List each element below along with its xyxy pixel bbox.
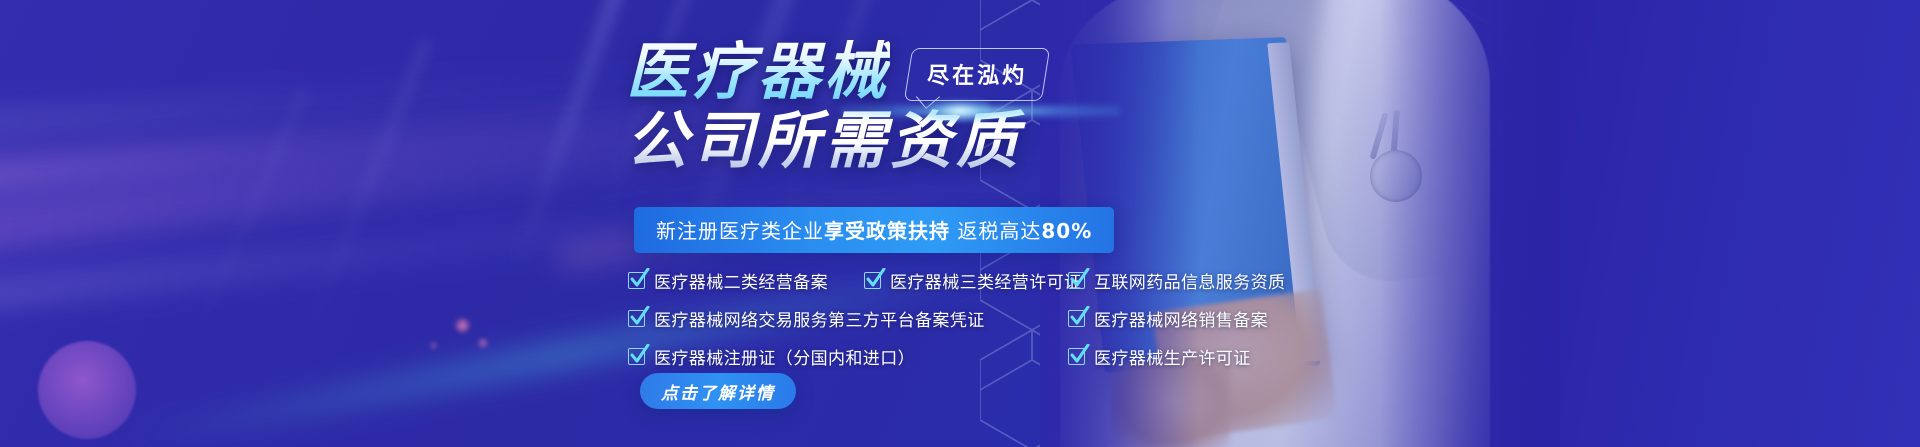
list-item[interactable]: 互联网药品信息服务资质 xyxy=(1068,268,1285,293)
list-item-label: 医疗器械三类经营许可证 xyxy=(890,268,1081,293)
list-item[interactable]: 医疗器械二类经营备案 xyxy=(628,268,828,293)
banner-content: 医疗器械 尽在泓灼 公司所需资质 新注册医疗类企业享受政策扶持 返税高达80% xyxy=(0,0,1920,447)
headline-line-1: 医疗器械 xyxy=(626,40,890,103)
list-item-label: 医疗器械生产许可证 xyxy=(1094,344,1251,369)
checkbox-checked-icon xyxy=(1068,272,1085,289)
brand-tag-bubble: 尽在泓灼 xyxy=(904,48,1050,101)
subtitle-highlight-bar: 新注册医疗类企业享受政策扶持 返税高达80% xyxy=(634,207,1114,253)
checklist-right-column: 互联网药品信息服务资质 医疗器械网络销售备案 xyxy=(1068,268,1285,369)
checklist-row: 医疗器械二类经营备案 医疗器械三类经营许可证 xyxy=(628,268,1068,293)
list-item[interactable]: 医疗器械网络销售备案 xyxy=(1068,306,1285,331)
checkbox-checked-icon xyxy=(1068,310,1085,327)
brand-tag-label: 尽在泓灼 xyxy=(927,58,1027,90)
subtitle-text-strong-2: 80% xyxy=(1041,219,1092,243)
list-item-label: 医疗器械网络销售备案 xyxy=(1094,306,1268,331)
learn-more-button-label: 点击了解详情 xyxy=(661,379,775,404)
list-item-label: 互联网药品信息服务资质 xyxy=(1094,268,1285,293)
subtitle-text-strong-1: 享受政策扶持 xyxy=(824,219,950,243)
checkbox-checked-icon xyxy=(628,310,645,327)
list-item[interactable]: 医疗器械三类经营许可证 xyxy=(864,268,1081,293)
subtitle-text-part-1: 新注册医疗类企业 xyxy=(656,219,824,243)
list-item-label: 医疗器械二类经营备案 xyxy=(654,268,828,293)
list-item-label: 医疗器械网络交易服务第三方平台备案凭证 xyxy=(654,306,985,331)
subtitle-text-part-2: 返税高达 xyxy=(950,219,1041,243)
checkbox-checked-icon xyxy=(1068,348,1085,365)
checklist-left-column: 医疗器械二类经营备案 医疗器械三类经营许可证 xyxy=(628,268,1068,369)
qualification-checklist: 医疗器械二类经营备案 医疗器械三类经营许可证 xyxy=(628,268,1285,369)
list-item[interactable]: 医疗器械注册证（分国内和进口） xyxy=(628,344,1068,369)
learn-more-button[interactable]: 点击了解详情 xyxy=(640,373,796,409)
headline-glow-hotspot xyxy=(930,100,990,122)
headline-first-row: 医疗器械 尽在泓灼 xyxy=(626,40,1046,103)
checkbox-checked-icon xyxy=(628,272,645,289)
checkbox-checked-icon xyxy=(864,272,881,289)
list-item[interactable]: 医疗器械网络交易服务第三方平台备案凭证 xyxy=(628,306,1068,331)
checkbox-checked-icon xyxy=(628,348,645,365)
medical-device-promo-banner: 医疗器械 尽在泓灼 公司所需资质 新注册医疗类企业享受政策扶持 返税高达80% xyxy=(0,0,1920,447)
list-item[interactable]: 医疗器械生产许可证 xyxy=(1068,344,1285,369)
list-item-label: 医疗器械注册证（分国内和进口） xyxy=(654,344,915,369)
